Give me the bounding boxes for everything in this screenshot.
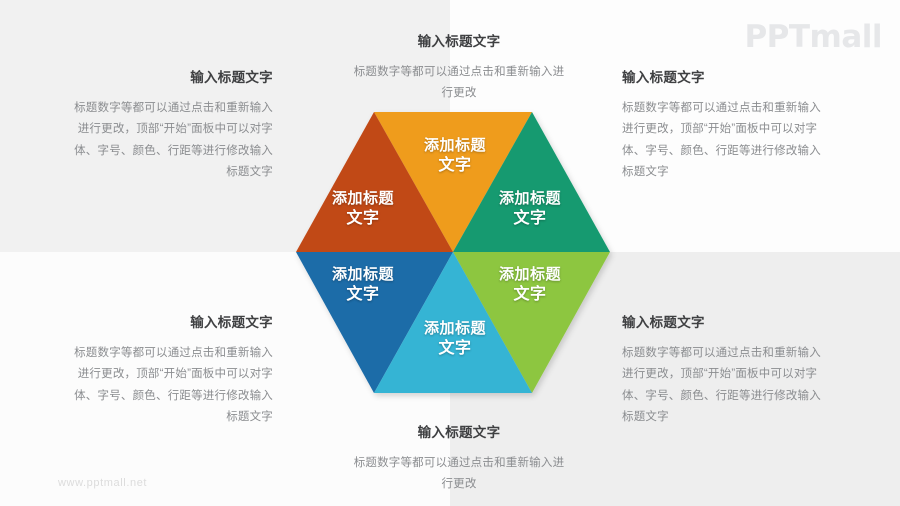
callout-bottom-right-body: 标题数字等都可以通过点击和重新输入进行更改，顶部“开始”面板中可以对字体、字号、… bbox=[622, 343, 825, 428]
site-watermark: www.pptmall.net bbox=[58, 477, 147, 489]
callout-bottom-center-body: 标题数字等都可以通过点击和重新输入进行更改 bbox=[352, 453, 566, 496]
pptmall-logo: PPTmall bbox=[744, 22, 882, 53]
logo-text: PPTmall bbox=[744, 19, 882, 55]
callout-bottom-center: 输入标题文字 标题数字等都可以通过点击和重新输入进行更改 bbox=[352, 421, 566, 496]
callout-top-center-title: 输入标题文字 bbox=[352, 30, 566, 50]
callout-bottom-right: 输入标题文字 标题数字等都可以通过点击和重新输入进行更改，顶部“开始”面板中可以… bbox=[622, 311, 825, 428]
callout-bottom-left-title: 输入标题文字 bbox=[70, 311, 273, 331]
hexagon-diagram bbox=[296, 112, 610, 394]
callout-top-right-title: 输入标题文字 bbox=[622, 66, 825, 86]
callout-top-right-body: 标题数字等都可以通过点击和重新输入进行更改，顶部“开始”面板中可以对字体、字号、… bbox=[622, 98, 825, 183]
callout-top-left-title: 输入标题文字 bbox=[70, 66, 273, 86]
callout-top-center-body: 标题数字等都可以通过点击和重新输入进行更改 bbox=[352, 62, 566, 105]
callout-bottom-left: 输入标题文字 标题数字等都可以通过点击和重新输入进行更改，顶部“开始”面板中可以… bbox=[70, 311, 273, 428]
callout-bottom-center-title: 输入标题文字 bbox=[352, 421, 566, 441]
callout-top-left-body: 标题数字等都可以通过点击和重新输入进行更改，顶部“开始”面板中可以对字体、字号、… bbox=[70, 98, 273, 183]
callout-bottom-left-body: 标题数字等都可以通过点击和重新输入进行更改，顶部“开始”面板中可以对字体、字号、… bbox=[70, 343, 273, 428]
callout-bottom-right-title: 输入标题文字 bbox=[622, 311, 825, 331]
callout-top-right: 输入标题文字 标题数字等都可以通过点击和重新输入进行更改，顶部“开始”面板中可以… bbox=[622, 66, 825, 183]
callout-top-center: 输入标题文字 标题数字等都可以通过点击和重新输入进行更改 bbox=[352, 30, 566, 105]
callout-top-left: 输入标题文字 标题数字等都可以通过点击和重新输入进行更改，顶部“开始”面板中可以… bbox=[70, 66, 273, 183]
